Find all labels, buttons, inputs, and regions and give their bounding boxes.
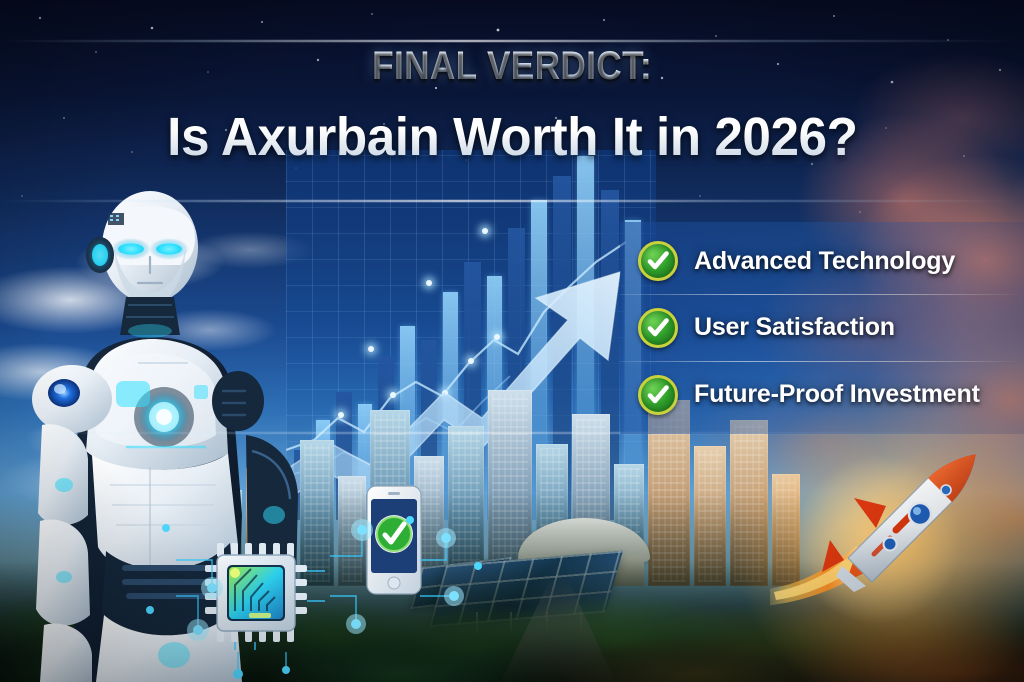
- checklist-item-label: Advanced Technology: [694, 247, 955, 276]
- check-circle-icon: [638, 308, 678, 348]
- subtitle-container: Is Axurbain Worth It in 2026?: [0, 106, 1024, 168]
- title-container: FINAL VERDICT:: [0, 44, 1024, 89]
- checklist-item-label: Future-Proof Investment: [694, 380, 980, 409]
- checklist-item[interactable]: User Satisfaction: [638, 296, 1024, 360]
- checklist-item[interactable]: Future-Proof Investment: [638, 363, 1024, 427]
- page-subtitle: Is Axurbain Worth It in 2026?: [167, 106, 857, 168]
- checklist-item-label: User Satisfaction: [694, 313, 895, 342]
- benefits-checklist-panel: Advanced Technology User Satisfaction Fu…: [620, 222, 1024, 434]
- check-circle-icon: [638, 241, 678, 281]
- checklist-item[interactable]: Advanced Technology: [638, 229, 1024, 293]
- final-verdict-banner: FINAL VERDICT: Is Axurbain Worth It in 2…: [0, 0, 1024, 682]
- page-title: FINAL VERDICT:: [372, 44, 652, 89]
- check-circle-icon: [638, 375, 678, 415]
